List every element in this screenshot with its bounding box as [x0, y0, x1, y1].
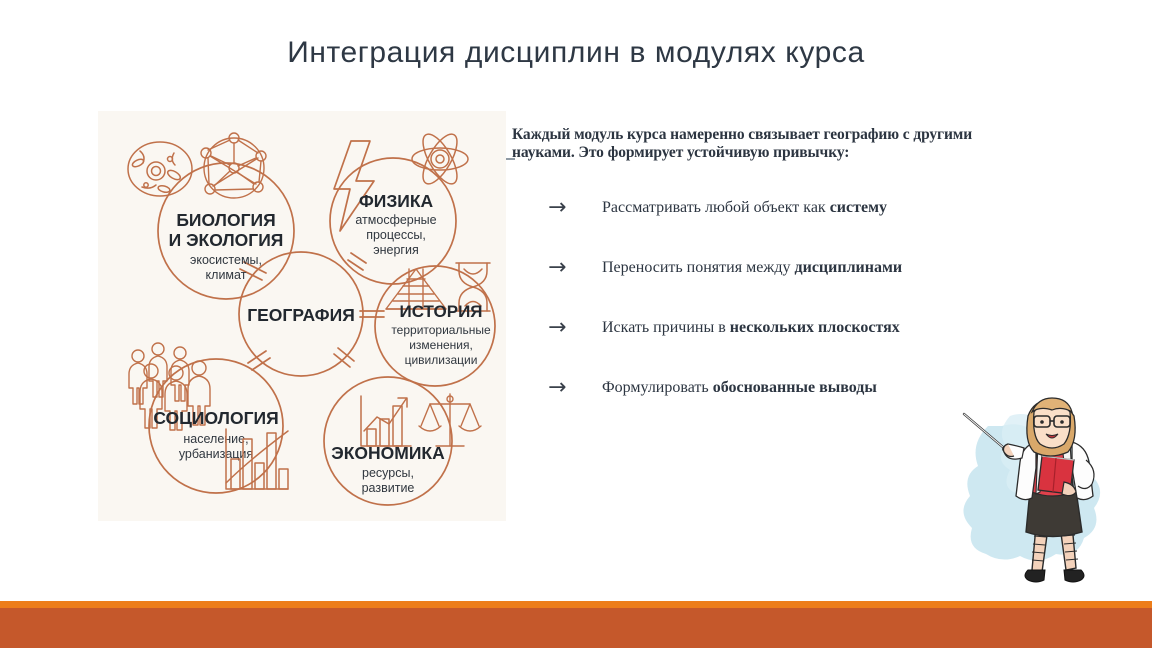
- node-sub-economics-1: ресурсы,: [362, 466, 414, 480]
- node-label-sociology: СОЦИОЛОГИЯ: [153, 408, 278, 428]
- node-label-economics: ЭКОНОМИКА: [331, 443, 445, 463]
- node-sub-biology-1: экосистемы,: [190, 253, 262, 267]
- arrow-right-icon: →: [548, 256, 602, 280]
- list-item-plain: Переносить понятия между: [602, 259, 795, 276]
- list-item-text: Переносить понятия между дисциплинами: [602, 256, 902, 279]
- list-item: → Искать причины в нескольких плоскостях: [548, 316, 1068, 376]
- node-label-geography: ГЕОГРАФИЯ: [247, 305, 355, 325]
- node-sub-physics-3: энергия: [373, 243, 419, 257]
- arrow-right-icon: →: [548, 196, 602, 220]
- list-item: → Переносить понятия между дисциплинами: [548, 256, 1068, 316]
- node-sub-biology-2: климат: [206, 268, 247, 282]
- teacher-illustration: [958, 386, 1146, 602]
- skirt: [1026, 490, 1082, 537]
- infographic-panel: БИОЛОГИЯ И ЭКОЛОГИЯ экосистемы, климат: [98, 111, 506, 521]
- page-title: Интеграция дисциплин в модулях курса: [0, 36, 1152, 70]
- bottom-bar-terracotta: [0, 608, 1152, 648]
- node-sub-physics-2: процессы,: [366, 228, 426, 242]
- list-item-bold: систему: [830, 199, 887, 216]
- arrow-right-icon: →: [548, 316, 602, 340]
- node-sub-sociology-2: урбанизация: [179, 447, 253, 461]
- node-sub-history-1: территориальные: [391, 323, 491, 337]
- shoes: [1025, 570, 1084, 582]
- node-sub-history-3: цивилизации: [405, 353, 478, 367]
- arrow-right-icon: →: [548, 376, 602, 400]
- list-item-plain: Рассматривать любой объект как: [602, 199, 830, 216]
- node-sub-history-2: изменения,: [409, 338, 473, 352]
- eye-right: [1060, 420, 1064, 424]
- node-label-physics: ФИЗИКА: [359, 191, 434, 211]
- node-sub-sociology-1: население,: [183, 432, 248, 446]
- list-item-bold: нескольких плоскостях: [730, 319, 900, 336]
- intro-line-1: Каждый модуль курса намеренно связывает …: [512, 126, 1068, 144]
- node-label-history: ИСТОРИЯ: [399, 302, 482, 321]
- intro-line-2: науками. Это формирует устойчивую привыч…: [512, 144, 1068, 162]
- list-item-plain: Формулировать: [602, 379, 713, 396]
- list-item-bold: дисциплинами: [795, 259, 903, 276]
- node-sub-economics-2: развитие: [362, 481, 415, 495]
- growth-chart-icon: [361, 396, 411, 446]
- node-label-biology-2: И ЭКОЛОГИЯ: [169, 230, 284, 250]
- intro-paragraph: Каждый модуль курса намеренно связывает …: [512, 126, 1068, 163]
- list-item-text: Формулировать обоснованные выводы: [602, 376, 877, 399]
- slide: Интеграция дисциплин в модулях курса: [0, 0, 1152, 648]
- list-item-bold: обоснованные выводы: [713, 379, 877, 396]
- node-sub-physics-1: атмосферные: [355, 213, 436, 227]
- node-label-biology: БИОЛОГИЯ: [176, 210, 275, 230]
- bottom-bar-orange: [0, 601, 1152, 608]
- cell-icon: [128, 142, 192, 196]
- list-item: → Рассматривать любой объект как систему: [548, 196, 1068, 256]
- eye-left: [1040, 420, 1044, 424]
- list-item-text: Искать причины в нескольких плоскостях: [602, 316, 900, 339]
- list-item-plain: Искать причины в: [602, 319, 730, 336]
- scales-icon: [419, 394, 481, 446]
- list-item-text: Рассматривать любой объект как систему: [602, 196, 887, 219]
